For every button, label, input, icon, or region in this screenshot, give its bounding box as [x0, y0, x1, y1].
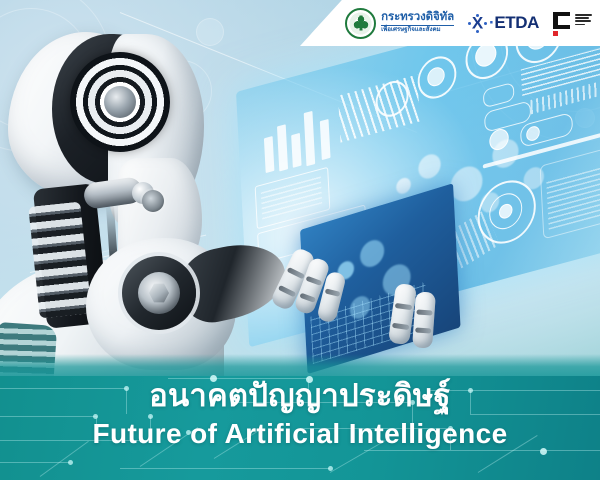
c-block-mark-icon [553, 12, 572, 36]
logo-ministry-of-digital[interactable]: กระทรวงดิจิทัล เพื่อเศรษฐกิจและสังคม [345, 8, 454, 39]
garuda-seal-icon [345, 8, 376, 39]
title-thai: อนาคตปัญญาประดิษฐ์ [0, 377, 600, 415]
robot-knuckle [287, 267, 305, 279]
poster-root: อนาคตปัญญาประดิษฐ์ Future of Artificial … [0, 0, 600, 480]
robot-eye-core [104, 86, 136, 118]
robot-knuckle [306, 276, 323, 286]
logo-etda[interactable]: X ·ETDA [468, 13, 539, 33]
robot-knuckle [416, 309, 432, 315]
title-english: Future of Artificial Intelligence [0, 417, 600, 450]
etda-wordmark: ·ETDA [489, 13, 539, 33]
robot-finger [412, 291, 436, 348]
robot-gear-icon [142, 190, 164, 212]
ministry-subtitle-th: เพื่อเศรษฐกิจและสังคม [381, 27, 454, 33]
robot-knuckle [395, 303, 412, 310]
etda-x-icon: X [468, 14, 487, 33]
robot-knuckle [299, 293, 316, 303]
humanoid-robot-profile [0, 8, 290, 408]
circuit-trace [364, 450, 600, 451]
circuit-node [328, 466, 333, 471]
robot-knuckle [325, 288, 341, 297]
logo-partner-organization[interactable] [553, 10, 592, 36]
robot-knuckle [392, 323, 409, 330]
robot-knuckle [415, 327, 431, 333]
ministry-title-th: กระทรวงดิจิทัล [381, 12, 454, 26]
accent-square-icon [553, 31, 558, 36]
hud-bar [291, 133, 301, 168]
circuit-trace [120, 468, 330, 469]
partner-text-lines [575, 12, 592, 25]
etda-text: ETDA [494, 13, 539, 32]
header-logo-bar: กระทรวงดิจิทัล เพื่อเศรษฐกิจและสังคม X ·… [300, 0, 600, 46]
circuit-node [68, 460, 73, 465]
robot-knuckle [278, 285, 296, 297]
title-block: อนาคตปัญญาประดิษฐ์ Future of Artificial … [0, 377, 600, 450]
